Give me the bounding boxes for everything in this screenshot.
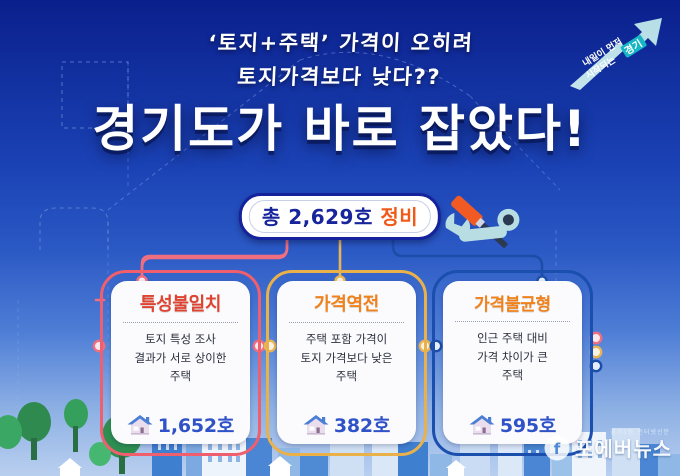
card-characteristic-mismatch[interactable]: 특성불일치 토지 특성 조사 결과가 서로 상이한 주택: [98, 270, 263, 460]
card-body-line: 토지 가격보다 낮은: [283, 349, 410, 368]
subtitle-line-1: ‘토지+주택’ 가격이 오히려: [208, 31, 475, 55]
watermark-text: 포에버뉴스: [575, 433, 672, 462]
card-price-reversal[interactable]: 가격역전 주택 포함 가격이 토지 가격보다 낮은 주택: [264, 270, 429, 460]
card-body-line: 주택: [449, 366, 576, 385]
subtitle-line-2: 토지가격보다 낮다??: [0, 60, 680, 94]
card-body-line: 주택: [283, 367, 410, 386]
card-body: 토지 특성 조사 결과가 서로 상이한 주택: [117, 330, 244, 411]
house-icon: [469, 414, 495, 436]
house-icon: [303, 414, 329, 436]
subtitle: ‘토지+주택’ 가격이 오히려 토지가격보다 낮다??: [0, 26, 680, 94]
card-value: 1,652호: [158, 411, 234, 438]
card-body-line: 결과가 서로 상이한: [117, 349, 244, 368]
page-title: 경기도가 바로 잡았다!: [0, 104, 680, 154]
card-divider: [455, 321, 570, 322]
card-body-line: 인근 주택 대비: [449, 329, 576, 348]
watermark-logo-icon: f: [544, 435, 570, 461]
card-inner: 가격불균형 인근 주택 대비 가격 차이가 큰 주택: [443, 281, 582, 444]
wrench-and-screwdriver-icon: [428, 172, 524, 262]
house-icon: [127, 414, 153, 436]
card-body: 주택 포함 가격이 토지 가격보다 낮은 주택: [283, 330, 410, 411]
card-value: 382호: [334, 411, 390, 438]
card-title: 가격불균형: [449, 290, 576, 315]
card-body-line: 토지 특성 조사: [117, 330, 244, 349]
card-inner: 가격역전 주택 포함 가격이 토지 가격보다 낮은 주택: [277, 281, 416, 444]
card-title: 가격역전: [283, 290, 410, 316]
total-badge-prefix: 총 2,629호: [262, 205, 373, 229]
card-body-line: 주택: [117, 367, 244, 386]
card-body-line: 가격 차이가 큰: [449, 348, 576, 367]
total-badge-text: 총 2,629호 정비: [262, 201, 418, 230]
svg-text:f: f: [554, 440, 561, 458]
infographic-canvas: 내일이 먼저 시작되는 경기 ‘토지+주택’ 가격이 오히려 토지가격보다 낮다…: [0, 0, 680, 476]
watermark: f 포에버뉴스: [544, 433, 672, 462]
card-footer: 382호: [283, 411, 410, 440]
card-body: 인근 주택 대비 가격 차이가 큰 주택: [449, 329, 576, 411]
card-divider: [289, 322, 404, 323]
total-badge-accent: 정비: [380, 205, 418, 229]
card-inner: 특성불일치 토지 특성 조사 결과가 서로 상이한 주택: [111, 281, 250, 444]
total-badge: 총 2,629호 정비: [239, 193, 441, 240]
card-body-line: 주택 포함 가격이: [283, 330, 410, 349]
card-footer: 1,652호: [117, 411, 244, 440]
card-divider: [123, 322, 238, 323]
total-badge-box: 총 2,629호 정비: [239, 193, 441, 240]
card-title: 특성불일치: [117, 290, 244, 316]
card-price-imbalance[interactable]: 가격불균형 인근 주택 대비 가격 차이가 큰 주택: [430, 270, 595, 460]
